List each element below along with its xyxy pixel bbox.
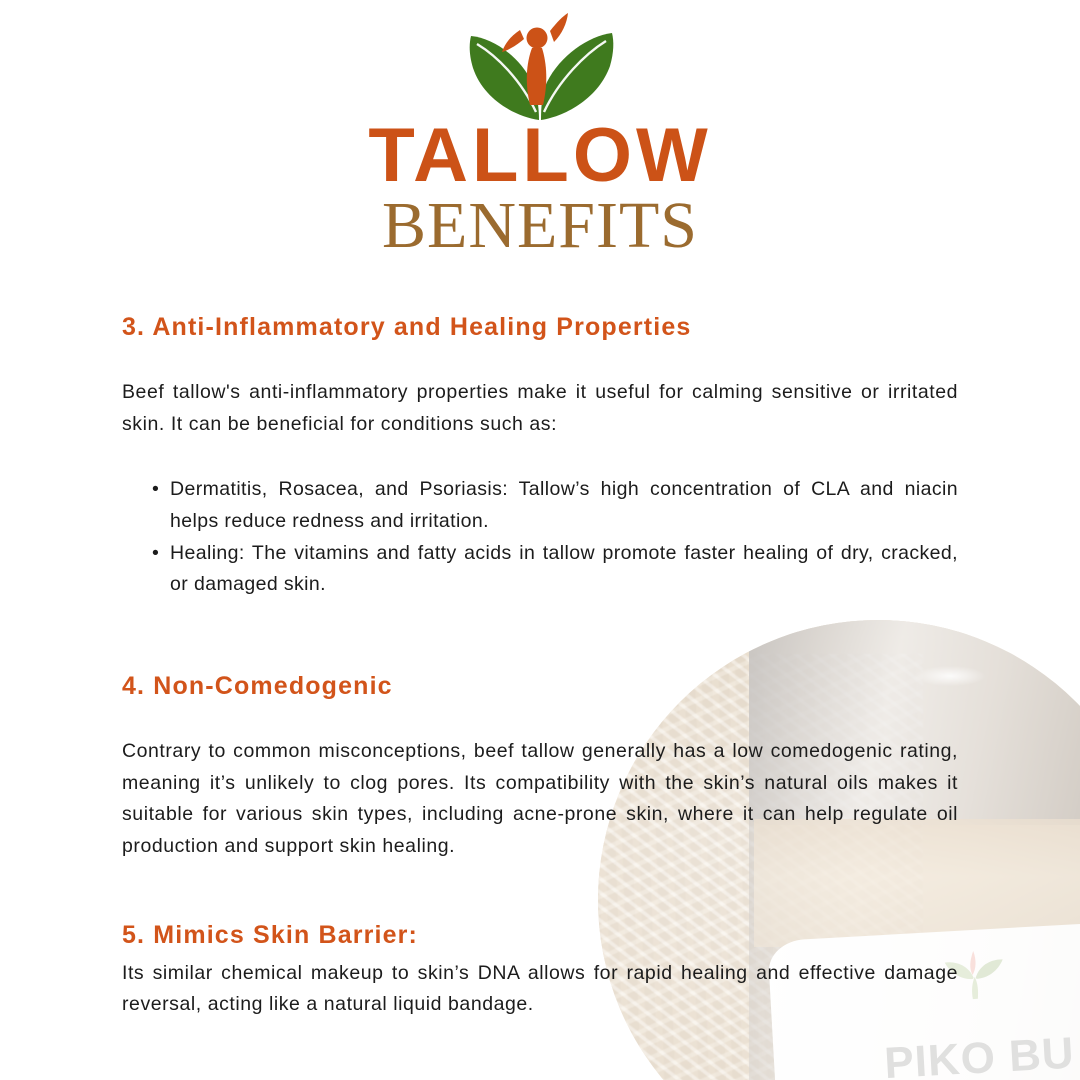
section-5: 5. Mimics Skin Barrier: Its similar chem…	[122, 920, 958, 1020]
section-4: 4. Non-Comedogenic Contrary to common mi…	[122, 671, 958, 863]
section-5-heading: 5. Mimics Skin Barrier:	[122, 920, 958, 951]
spacer	[122, 440, 958, 474]
section-3-heading: 3. Anti-Inflammatory and Healing Propert…	[122, 312, 958, 343]
section-4-paragraph: Contrary to common misconceptions, beef …	[122, 736, 958, 862]
spacer	[122, 702, 958, 736]
spacer	[122, 601, 958, 671]
section-3-bullet-list: Dermatitis, Rosacea, and Psoriasis: Tall…	[122, 474, 958, 600]
page-title: TALLOW	[0, 121, 1080, 191]
section-3: 3. Anti-Inflammatory and Healing Propert…	[122, 312, 958, 601]
spacer	[122, 862, 958, 920]
product-brand-name: PIKO BU	[883, 1028, 1076, 1080]
section-5-paragraph: Its similar chemical makeup to skin’s DN…	[122, 958, 958, 1021]
section-4-heading: 4. Non-Comedogenic	[122, 671, 958, 702]
spacer	[122, 343, 958, 377]
list-item: Dermatitis, Rosacea, and Psoriasis: Tall…	[152, 474, 958, 537]
list-item: Healing: The vitamins and fatty acids in…	[152, 538, 958, 601]
poster-page: PIKO BU WHIPPED TALLOW TALLOW BENE	[0, 0, 1080, 1080]
section-3-paragraph: Beef tallow's anti-inflammatory properti…	[122, 377, 958, 440]
page-subtitle: BENEFITS	[0, 193, 1080, 259]
sprout-person-leaves-logo-icon	[447, 12, 633, 127]
poster-header: TALLOW BENEFITS	[0, 0, 1080, 259]
poster-content: 3. Anti-Inflammatory and Healing Propert…	[122, 312, 958, 1021]
